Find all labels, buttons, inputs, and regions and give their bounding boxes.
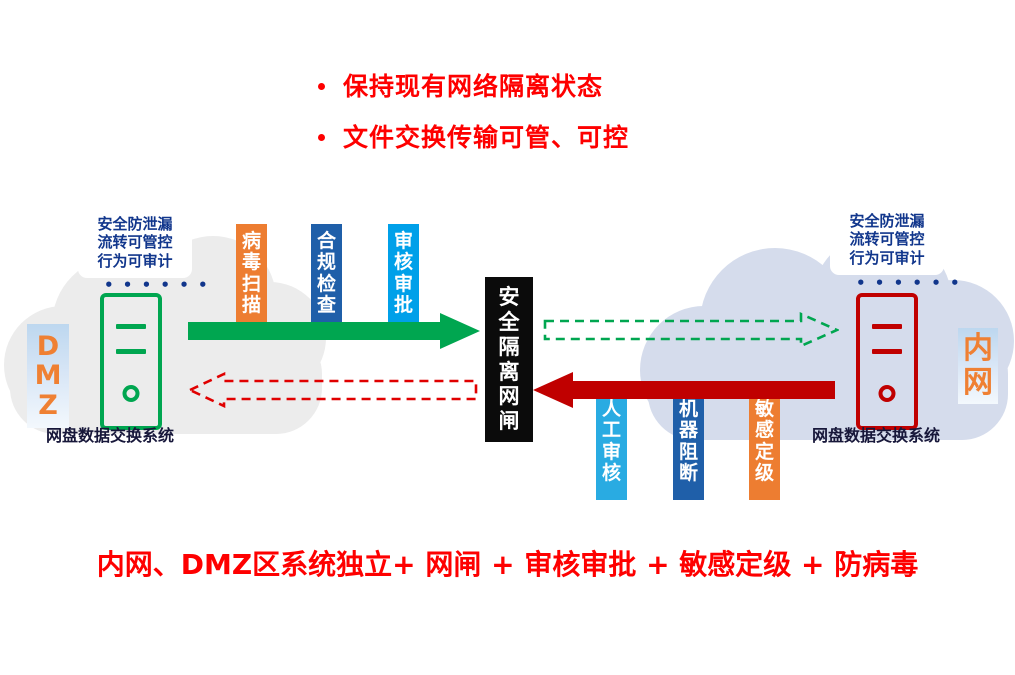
server-bar — [116, 324, 146, 329]
intranet-callout-dots: • • • • • • — [856, 276, 962, 291]
chip-char: 工 — [602, 420, 621, 441]
intranet-zone-label: 内网 — [958, 332, 998, 399]
gateway-char: 网 — [499, 384, 520, 409]
chip-char: 器 — [679, 420, 698, 441]
gateway-char: 闸 — [499, 409, 520, 434]
dmz-zone-badge: D M Z — [27, 324, 69, 428]
chip-char: 定 — [755, 442, 774, 463]
chip-char: 审 — [602, 442, 621, 463]
chip-sensitivity-grading: 敏 感 定 级 — [749, 392, 780, 500]
server-power-dot-icon — [123, 385, 140, 402]
bullet-item-2: 文件交换传输可管、可控 — [318, 125, 818, 150]
intranet-callout-line-2: 流转可管控 — [849, 230, 924, 248]
bullet-text-1: 保持现有网络隔离状态 — [343, 74, 603, 99]
security-gateway-box: 安 全 隔 离 网 闸 — [485, 277, 533, 442]
chip-machine-block: 机 器 阻 断 — [673, 392, 704, 500]
chip-char: 审 — [394, 231, 413, 252]
chip-char: 检 — [317, 274, 336, 295]
chip-char: 核 — [394, 252, 413, 273]
dmz-server-icon — [100, 293, 162, 430]
diagram-canvas: 保持现有网络隔离状态 文件交换传输可管、可控 D M Z 安全防泄漏 流转可管控… — [0, 0, 1015, 675]
intranet-callout-bubble: 安全防泄漏 流转可管控 行为可审计 — [830, 205, 944, 275]
chip-char: 核 — [602, 463, 621, 484]
gateway-char: 隔 — [499, 335, 520, 360]
dmz-letter-m: M — [35, 361, 62, 390]
intranet-callout-line-1: 安全防泄漏 — [849, 212, 924, 230]
dmz-callout-dots: • • • • • • — [104, 278, 210, 293]
server-bar — [116, 349, 146, 354]
server-bar — [872, 324, 902, 329]
dmz-system-caption: 网盘数据交换系统 — [46, 428, 174, 444]
dmz-letter-z: Z — [38, 391, 58, 420]
bullet-text-2: 文件交换传输可管、可控 — [343, 125, 629, 150]
flow-arrow-outbound-solid — [188, 313, 480, 349]
chip-char: 断 — [679, 463, 698, 484]
chip-char: 审 — [394, 274, 413, 295]
bullet-dot-icon — [318, 83, 325, 90]
intranet-system-caption: 网盘数据交换系统 — [812, 428, 940, 444]
intranet-zone-badge: 内网 — [958, 328, 998, 404]
gateway-char: 离 — [499, 360, 520, 385]
gateway-char: 安 — [499, 285, 520, 310]
chip-char: 级 — [755, 463, 774, 484]
dmz-callout-line-2: 流转可管控 — [97, 233, 172, 251]
bullet-item-1: 保持现有网络隔离状态 — [318, 74, 818, 99]
server-power-dot-icon — [879, 385, 896, 402]
dmz-callout-line-1: 安全防泄漏 — [97, 215, 172, 233]
chip-char: 感 — [755, 420, 774, 441]
server-bar — [872, 349, 902, 354]
chip-char: 合 — [317, 231, 336, 252]
dmz-callout-bubble: 安全防泄漏 流转可管控 行为可审计 — [78, 208, 192, 278]
bullet-dot-icon — [318, 134, 325, 141]
chip-char: 扫 — [242, 274, 261, 295]
dmz-letter-d: D — [37, 332, 59, 361]
gateway-char: 全 — [499, 310, 520, 335]
intranet-server-icon — [856, 293, 918, 430]
chip-char: 病 — [242, 231, 261, 252]
footer-summary: 内网、DMZ区系统独立+ 网闸 + 审核审批 + 敏感定级 + 防病毒 — [0, 551, 1015, 579]
flow-arrow-return-dashed — [188, 372, 478, 408]
flow-arrow-intranet-solid — [533, 372, 835, 408]
dmz-callout-line-3: 行为可审计 — [97, 252, 172, 270]
chip-manual-review: 人 工 审 核 — [596, 392, 627, 500]
chip-char: 毒 — [242, 252, 261, 273]
bullet-list: 保持现有网络隔离状态 文件交换传输可管、可控 — [318, 74, 818, 176]
intranet-callout-line-3: 行为可审计 — [849, 249, 924, 267]
flow-arrow-inbound-dashed — [543, 312, 839, 348]
chip-char: 阻 — [679, 442, 698, 463]
chip-char: 规 — [317, 252, 336, 273]
